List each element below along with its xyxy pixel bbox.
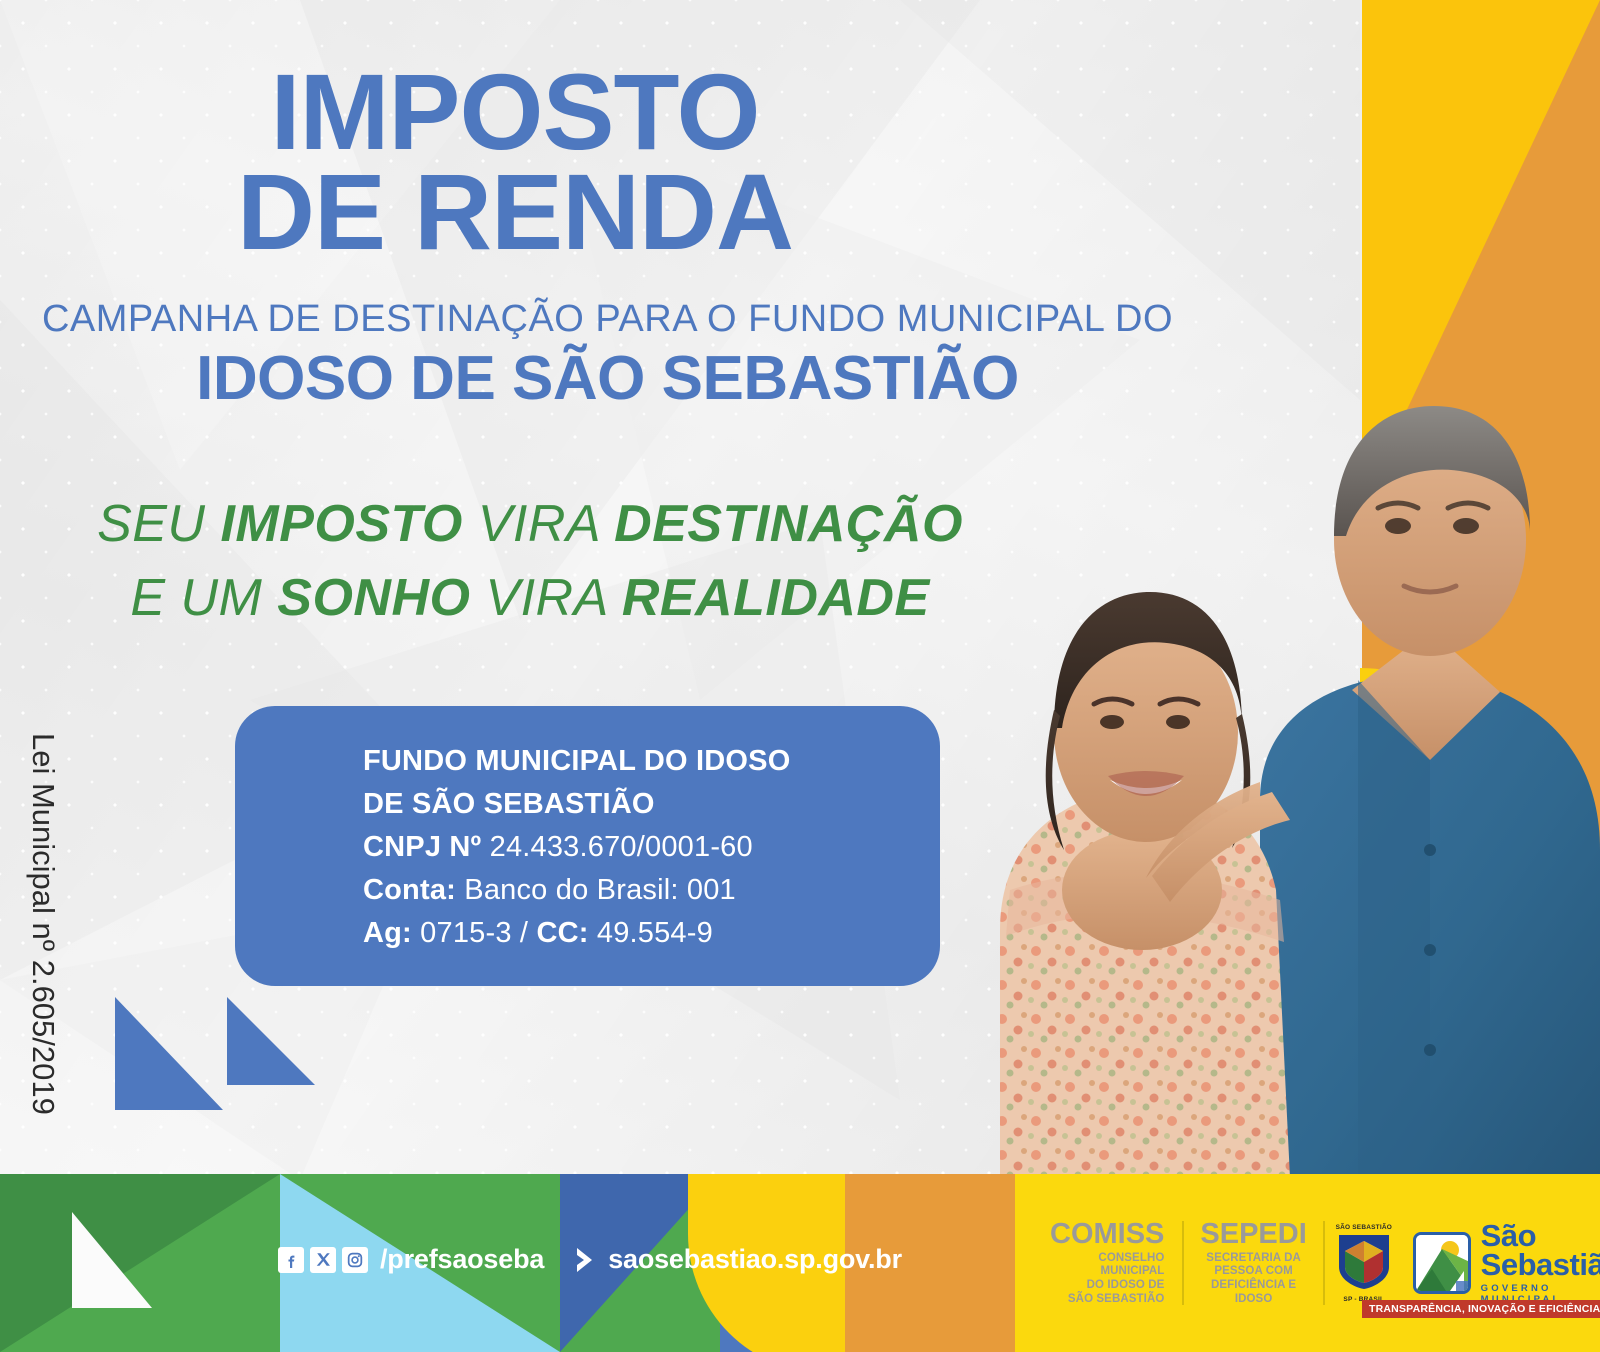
- sepedi-sub-1: SECRETARIA DA: [1200, 1252, 1307, 1266]
- sepedi-sub-3: DEFICIÊNCIA E IDOSO: [1200, 1279, 1307, 1306]
- crest-top-caption: SÃO SEBASTIÃO: [1335, 1224, 1393, 1231]
- cnpj-label: CNPJ Nº: [363, 831, 481, 863]
- subtitle-block: CAMPANHA DE DESTINAÇÃO PARA O FUNDO MUNI…: [0, 300, 1215, 413]
- tagline-2-d: REALIDADE: [622, 569, 930, 627]
- headline-line-2: DE RENDA: [0, 162, 1030, 262]
- card-cnpj: CNPJ Nº 24.433.670/0001-60: [363, 826, 940, 869]
- tagline-2-b: SONHO: [277, 569, 470, 627]
- city-tagline-banner: TRANSPARÊNCIA, INOVAÇÃO E EFICIÊNCIA: [1362, 1300, 1600, 1318]
- comiss-name: COMISS: [1050, 1220, 1164, 1249]
- social-handle[interactable]: /prefsaoseba: [380, 1244, 544, 1275]
- city-logo-mark: [1413, 1232, 1471, 1294]
- footer-bar: /prefsaoseba saosebastiao.sp.gov.br COMI…: [0, 1174, 1600, 1352]
- website-link[interactable]: saosebastiao.sp.gov.br: [608, 1244, 902, 1275]
- city-coat-of-arms: SÃO SEBASTIÃO SP - BRASIL: [1335, 1224, 1393, 1302]
- city-name-2: Sebastião: [1481, 1250, 1600, 1279]
- bank-info-card: FUNDO MUNICIPAL DO IDOSO DE SÃO SEBASTIÃ…: [235, 706, 940, 986]
- cc-value: 49.554-9: [589, 917, 713, 949]
- card-title-line-2: DE SÃO SEBASTIÃO: [363, 783, 940, 826]
- sepedi-name: SEPEDI: [1200, 1220, 1307, 1249]
- city-logo-text: São Sebastião GOVERNO MUNICIPAL: [1481, 1221, 1600, 1306]
- ag-value: 0715-3 /: [412, 917, 537, 949]
- blue-triangles-decoration: [115, 975, 315, 1110]
- tagline-line-2: E UM SONHO VIRA REALIDADE: [0, 562, 1060, 636]
- conta-value: Banco do Brasil: 001: [456, 874, 736, 906]
- tagline-2-a: E UM: [130, 569, 277, 627]
- logo-divider-1: [1182, 1221, 1184, 1305]
- law-notice: Lei Municipal nº 2.605/2019: [25, 733, 61, 1163]
- poster-canvas: IMPOSTO DE RENDA CAMPANHA DE DESTINAÇÃO …: [0, 0, 1600, 1352]
- tagline-1-d: DESTINAÇÃO: [614, 495, 963, 553]
- tagline-1-b: IMPOSTO: [220, 495, 462, 553]
- city-government-logo: São Sebastião GOVERNO MUNICIPAL: [1413, 1221, 1600, 1306]
- city-name-1: São: [1481, 1221, 1600, 1250]
- logo-divider-2: [1323, 1221, 1325, 1305]
- social-links[interactable]: /prefsaoseba saosebastiao.sp.gov.br: [278, 1244, 902, 1275]
- sepedi-logo: SEPEDI SECRETARIA DA PESSOA COM DEFICIÊN…: [1184, 1220, 1323, 1306]
- facebook-icon[interactable]: [278, 1247, 304, 1273]
- conta-label: Conta:: [363, 874, 456, 906]
- elderly-couple-photo: [960, 330, 1600, 1178]
- card-agencia-conta: Ag: 0715-3 / CC: 49.554-9: [363, 912, 940, 955]
- tagline-2-c: VIRA: [470, 569, 621, 627]
- comiss-subtitle: CONSELHO MUNICIPAL DO IDOSO DE SÃO SEBAS…: [1050, 1252, 1164, 1306]
- tagline-1-c: VIRA: [463, 495, 614, 553]
- comiss-sub-2: DO IDOSO DE: [1050, 1279, 1164, 1293]
- subtitle-small: CAMPANHA DE DESTINAÇÃO PARA O FUNDO MUNI…: [0, 300, 1215, 340]
- ag-label: Ag:: [363, 917, 412, 949]
- main-headline: IMPOSTO DE RENDA: [0, 62, 1030, 263]
- comiss-sub-3: SÃO SEBASTIÃO: [1050, 1293, 1164, 1307]
- sepedi-sub-2: PESSOA COM: [1200, 1265, 1307, 1279]
- sepedi-subtitle: SECRETARIA DA PESSOA COM DEFICIÊNCIA E I…: [1200, 1252, 1307, 1306]
- tagline-1-a: SEU: [97, 495, 220, 553]
- cnpj-value: 24.433.670/0001-60: [481, 831, 752, 863]
- chevron-right-icon: [574, 1246, 596, 1274]
- cc-label: CC:: [536, 917, 588, 949]
- tagline-line-1: SEU IMPOSTO VIRA DESTINAÇÃO: [0, 488, 1060, 562]
- instagram-icon[interactable]: [342, 1247, 368, 1273]
- card-conta: Conta: Banco do Brasil: 001: [363, 869, 940, 912]
- x-twitter-icon[interactable]: [310, 1247, 336, 1273]
- comiss-logo: COMISS CONSELHO MUNICIPAL DO IDOSO DE SÃ…: [1050, 1220, 1182, 1306]
- comiss-sub-1: CONSELHO MUNICIPAL: [1050, 1252, 1164, 1279]
- subtitle-large: IDOSO DE SÃO SEBASTIÃO: [0, 344, 1215, 413]
- green-tagline: SEU IMPOSTO VIRA DESTINAÇÃO E UM SONHO V…: [0, 488, 1060, 636]
- card-title-line-1: FUNDO MUNICIPAL DO IDOSO: [363, 740, 940, 783]
